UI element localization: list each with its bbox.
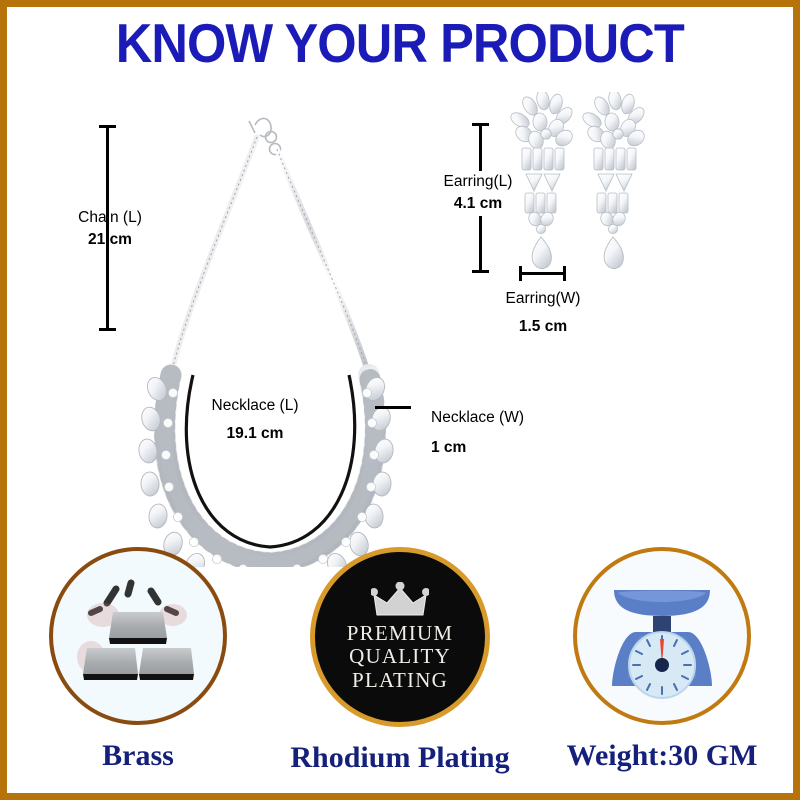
necklace-image (127, 107, 427, 567)
badge-material-caption: Brass (102, 739, 174, 773)
seal-line-2: QUALITY (349, 645, 451, 669)
badge-plating-circle: PREMIUM QUALITY PLATING (310, 547, 490, 727)
crown-icon (371, 582, 429, 618)
earring-length-value: 4.1 cm (439, 193, 517, 215)
chain-length-value: 21 cm (67, 229, 153, 251)
earring-width-name: Earring(W) (506, 290, 581, 307)
necklace-width-value: 1 cm (431, 437, 524, 459)
page-title-bar: KNOW YOUR PRODUCT (7, 7, 793, 79)
page-title: KNOW YOUR PRODUCT (116, 11, 684, 75)
badge-plating-caption: Rhodium Plating (290, 741, 509, 775)
badge-material-circle (49, 547, 227, 725)
necklace-length-label: Necklace (L) 19.1 cm (190, 395, 320, 446)
seal-line-3: PLATING (352, 669, 448, 693)
badge-material: Brass (18, 547, 258, 773)
necklace-width-tick (375, 406, 411, 409)
badge-weight: Weight:30 GM (542, 547, 782, 773)
earring-width-value: 1.5 cm (491, 316, 595, 338)
earrings-image (502, 92, 662, 277)
necklace-width-name: Necklace (W) (431, 409, 524, 426)
chain-length-label: Chain (L) 21 cm (67, 207, 153, 252)
product-infographic: KNOW YOUR PRODUCT (0, 0, 800, 800)
seal-line-1: PREMIUM (347, 622, 453, 646)
weighing-scale-icon (592, 566, 732, 706)
necklace-length-value: 19.1 cm (190, 423, 320, 445)
metal-ingots-icon (63, 561, 213, 711)
earring-length-label: Earring(L) 4.1 cm (439, 171, 517, 216)
necklace-length-name: Necklace (L) (212, 397, 299, 414)
earring-length-name: Earring(L) (444, 173, 513, 190)
earring-width-label: Earring(W) 1.5 cm (491, 288, 595, 339)
chain-length-name: Chain (L) (78, 209, 142, 226)
badge-weight-caption: Weight:30 GM (567, 739, 758, 773)
earring-width-rule (519, 272, 566, 275)
feature-badges: Brass PREMIUM QUALITY PLATING (7, 547, 793, 793)
badge-plating: PREMIUM QUALITY PLATING Rhodium Plating (280, 547, 520, 775)
necklace-width-label: Necklace (W) 1 cm (431, 407, 524, 460)
badge-weight-circle (573, 547, 751, 725)
